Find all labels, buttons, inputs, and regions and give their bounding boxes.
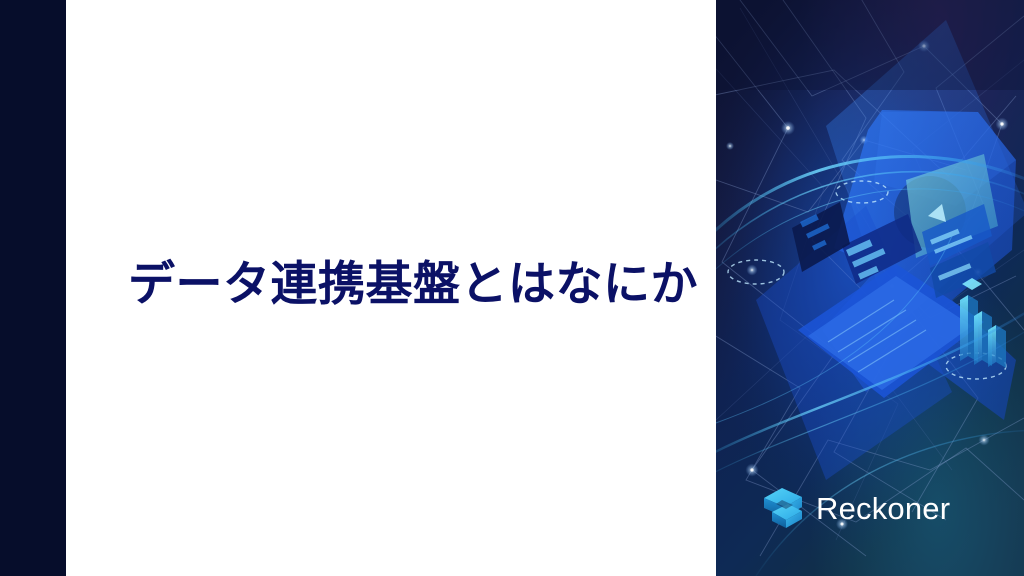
- hero-image-panel: Reckoner: [716, 0, 1024, 576]
- reckoner-wordmark: Reckoner: [816, 493, 950, 524]
- hero-top-vignette: [716, 0, 1024, 90]
- left-accent-bar: [0, 0, 66, 576]
- reckoner-logo-lockup: Reckoner: [762, 486, 950, 530]
- content-area: データ連携基盤とはなにか: [66, 0, 716, 576]
- slide-root: データ連携基盤とはなにか: [0, 0, 1024, 576]
- reckoner-cube-icon: [762, 486, 804, 530]
- slide-title: データ連携基盤とはなにか: [128, 255, 708, 315]
